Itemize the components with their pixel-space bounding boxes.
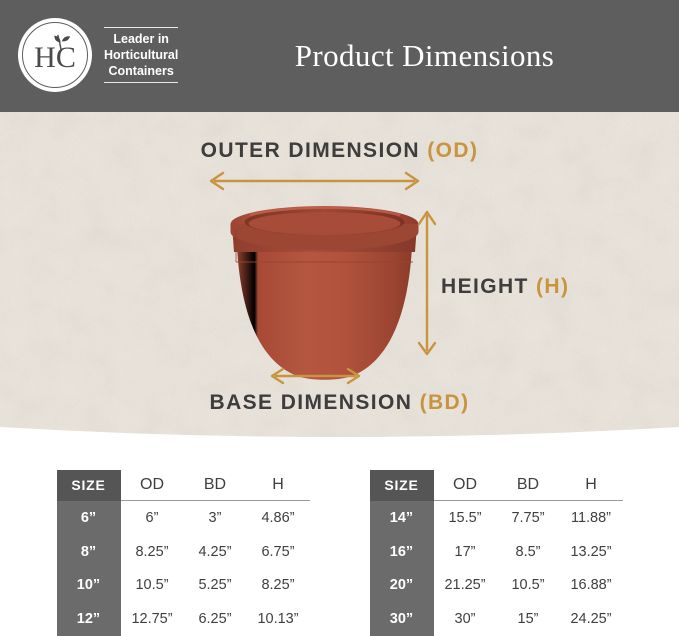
col-head-od: OD [121,470,184,501]
table-row: 14” 15.5” 7.75” 11.88” [370,501,623,535]
page-title-text: Product Dimensions [295,38,555,74]
table-row: 20” 21.25” 10.5” 16.88” [370,569,623,603]
cell-h: 24.25” [560,602,623,636]
col-head-od: OD [434,470,497,501]
base-dimension-text: BASE DIMENSION [210,391,413,414]
cell-size: 14” [370,501,434,535]
base-dimension-abbr: (BD) [420,391,470,414]
height-dimension-text: HEIGHT [441,275,529,298]
tagline-line-1: Leader in [104,31,178,47]
tagline-line-2: Horticultural [104,47,178,63]
cell-size: 10” [57,569,121,603]
height-arrow [419,212,435,354]
cell-size: 16” [370,535,434,569]
height-dimension-abbr: (H) [536,275,569,298]
cell-od: 21.25” [434,569,497,603]
cell-bd: 6.25” [184,602,247,636]
table-row: 8” 8.25” 4.25” 6.75” [57,535,310,569]
cell-h: 11.88” [560,501,623,535]
cell-h: 6.75” [247,535,310,569]
cell-bd: 4.25” [184,535,247,569]
hc-circle-logo-icon: HC [18,18,92,92]
cell-od: 15.5” [434,501,497,535]
cell-bd: 15” [497,602,560,636]
cell-size: 6” [57,501,121,535]
leaf-sprout-icon [48,32,74,52]
tagline-line-3: Containers [104,63,178,79]
diagram-panel: OUTER DIMENSION (OD) BASE DIMENSION (BD)… [0,112,679,442]
height-dimension-label: HEIGHT (H) [441,275,569,299]
col-head-bd: BD [184,470,247,501]
cell-h: 10.13” [247,602,310,636]
cell-h: 8.25” [247,569,310,603]
cell-bd: 5.25” [184,569,247,603]
cell-bd: 8.5” [497,535,560,569]
col-head-h: H [560,470,623,501]
table-header-row: SIZE OD BD H [57,470,310,501]
cell-size: 20” [370,569,434,603]
dimension-table-left: SIZE OD BD H 6” 6” 3” 4.86” 8” 8.25” 4.2… [57,470,310,636]
outer-dimension-text: OUTER DIMENSION [201,139,420,162]
cell-h: 4.86” [247,501,310,535]
brand-tagline: Leader in Horticultural Containers [104,27,178,83]
pot-illustration [231,206,419,380]
cell-size: 12” [57,602,121,636]
outer-dimension-label: OUTER DIMENSION (OD) [0,139,679,163]
base-dimension-label: BASE DIMENSION (BD) [0,391,679,415]
table-row: 16” 17” 8.5” 13.25” [370,535,623,569]
col-head-h: H [247,470,310,501]
cell-od: 12.75” [121,602,184,636]
cell-size: 8” [57,535,121,569]
table-row: 12” 12.75” 6.25” 10.13” [57,602,310,636]
header-bar: HC Leader in Horticultural Containers Pr… [0,0,679,112]
cell-od: 6” [121,501,184,535]
brand-logo: HC Leader in Horticultural Containers [18,18,178,92]
col-head-size: SIZE [57,470,121,501]
table-row: 10” 10.5” 5.25” 8.25” [57,569,310,603]
cell-h: 16.88” [560,569,623,603]
table-row: 6” 6” 3” 4.86” [57,501,310,535]
dimension-table-right: SIZE OD BD H 14” 15.5” 7.75” 11.88” 16” … [370,470,623,636]
col-head-size: SIZE [370,470,434,501]
od-arrow [211,173,418,189]
cell-od: 8.25” [121,535,184,569]
dimension-tables: SIZE OD BD H 6” 6” 3” 4.86” 8” 8.25” 4.2… [0,470,679,636]
cell-bd: 10.5” [497,569,560,603]
cell-od: 30” [434,602,497,636]
table-row: 30” 30” 15” 24.25” [370,602,623,636]
cell-od: 17” [434,535,497,569]
cell-bd: 7.75” [497,501,560,535]
col-head-bd: BD [497,470,560,501]
cell-h: 13.25” [560,535,623,569]
cell-bd: 3” [184,501,247,535]
table-header-row: SIZE OD BD H [370,470,623,501]
cell-od: 10.5” [121,569,184,603]
outer-dimension-abbr: (OD) [427,139,478,162]
cell-size: 30” [370,602,434,636]
